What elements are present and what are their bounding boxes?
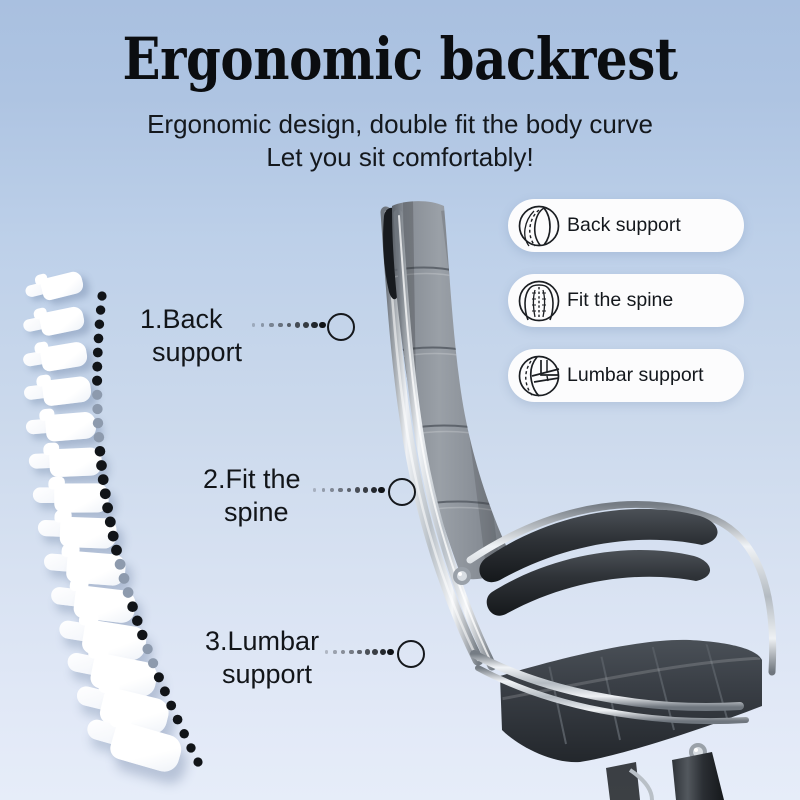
callout-1-line-2: support: [152, 336, 242, 369]
leader-dot: [278, 323, 282, 327]
leader-dot: [333, 650, 337, 654]
callout-1-line-1: 1.Back: [140, 303, 223, 336]
leader-dot: [365, 649, 370, 654]
leader-dot: [341, 650, 345, 654]
leader-dot: [295, 322, 300, 327]
leader-dot: [252, 323, 255, 326]
vertebra: [22, 339, 94, 378]
leader-dot: [380, 649, 386, 655]
vertebra: [29, 447, 109, 482]
vertebra: [37, 516, 123, 553]
feature-badge-lumbar-support[interactable]: Lumbar support: [508, 349, 744, 402]
feature-badge-label: Lumbar support: [567, 364, 704, 387]
page-subtitle: Ergonomic design, double fit the body cu…: [0, 108, 800, 174]
leader-dot: [325, 650, 328, 653]
feature-badge-label: Fit the spine: [567, 289, 673, 312]
vertebra: [23, 375, 98, 413]
gas-cylinder: [672, 752, 724, 800]
leader-dot: [313, 488, 316, 491]
feature-badge-fit-the-spine[interactable]: Fit the spine: [508, 274, 744, 327]
leader-dot: [378, 487, 385, 494]
leader-dot: [387, 649, 394, 656]
vertebra: [22, 304, 91, 343]
leader-dot: [349, 650, 353, 654]
callout-2-line-1: 2.Fit the: [203, 463, 301, 496]
vertebra-body: [55, 483, 109, 512]
leader-dot: [347, 488, 352, 493]
leader-dot: [330, 488, 334, 492]
leader-dot: [372, 649, 378, 655]
leader-dot: [322, 488, 326, 492]
leader-dot: [303, 322, 309, 328]
lumbar-support-icon: [517, 354, 561, 398]
spine-icon: [517, 279, 561, 323]
leader-dot: [355, 487, 360, 492]
callout-1-end-marker[interactable]: [327, 313, 355, 341]
leader-dot: [338, 488, 342, 492]
callout-3-line-1: 3.Lumbar: [205, 625, 319, 658]
base-arm: [606, 762, 640, 800]
leader-dot: [261, 323, 265, 327]
feature-badge-back-support[interactable]: Back support: [508, 199, 744, 252]
feature-badge-list: Back support Fit the spine: [508, 199, 744, 424]
back-support-icon: [517, 204, 561, 248]
vertebra: [24, 269, 90, 308]
subtitle-line-1: Ergonomic design, double fit the body cu…: [0, 108, 800, 141]
callout-2-end-marker[interactable]: [388, 478, 416, 506]
callout-3-line-2: support: [222, 658, 312, 691]
subtitle-line-2: Let you sit comfortably!: [0, 141, 800, 174]
vertebra-body: [42, 376, 93, 407]
vertebra: [33, 483, 115, 516]
product-infographic: Ergonomic backrest Ergonomic design, dou…: [0, 0, 800, 800]
leader-dot: [319, 322, 326, 329]
leader-dot: [371, 487, 377, 493]
callout-1-leader: [252, 318, 326, 332]
callout-2-line-2: spine: [224, 496, 289, 529]
feature-badge-label: Back support: [567, 214, 681, 237]
vertebra: [25, 411, 102, 448]
callout-3-leader: [325, 645, 394, 659]
vertebra-body: [108, 720, 185, 775]
vertebra-body: [45, 411, 97, 442]
page-title: Ergonomic backrest: [56, 28, 744, 90]
callout-3-end-marker[interactable]: [397, 640, 425, 668]
leader-dot: [311, 322, 317, 328]
leader-dot: [287, 323, 292, 328]
frame-pivot-bolt: [453, 567, 471, 585]
leader-dot: [363, 487, 369, 493]
callout-2-leader: [313, 483, 385, 497]
vertebra-body: [49, 447, 102, 477]
leader-dot: [357, 650, 362, 655]
leader-dot: [269, 323, 273, 327]
